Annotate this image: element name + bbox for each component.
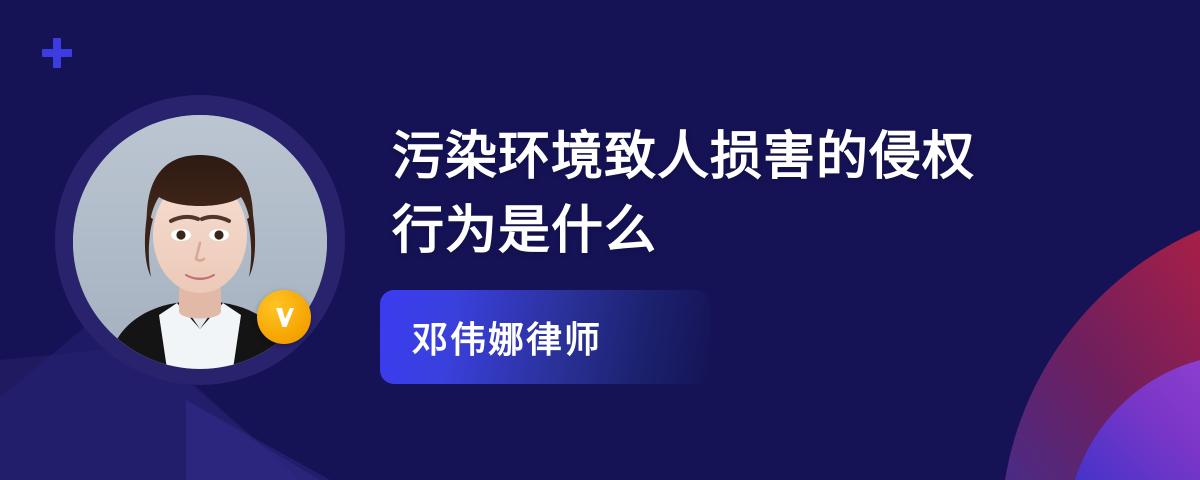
page-title: 污染环境致人损害的侵权: [392, 120, 1132, 194]
plus-icon: [42, 38, 72, 68]
video-cover-card: 污染环境致人损害的侵权 行为是什么 邓伟娜律师: [0, 0, 1200, 480]
lawyer-name-label: 邓伟娜律师: [412, 311, 602, 363]
lawyer-name-badge[interactable]: 邓伟娜律师: [380, 290, 710, 384]
check-v-icon: [276, 308, 294, 327]
page-title-line-2: 行为是什么: [392, 194, 1132, 268]
verified-badge: [257, 290, 311, 344]
avatar: [55, 95, 345, 385]
content-block: 污染环境致人损害的侵权 行为是什么 邓伟娜律师: [392, 120, 1132, 268]
